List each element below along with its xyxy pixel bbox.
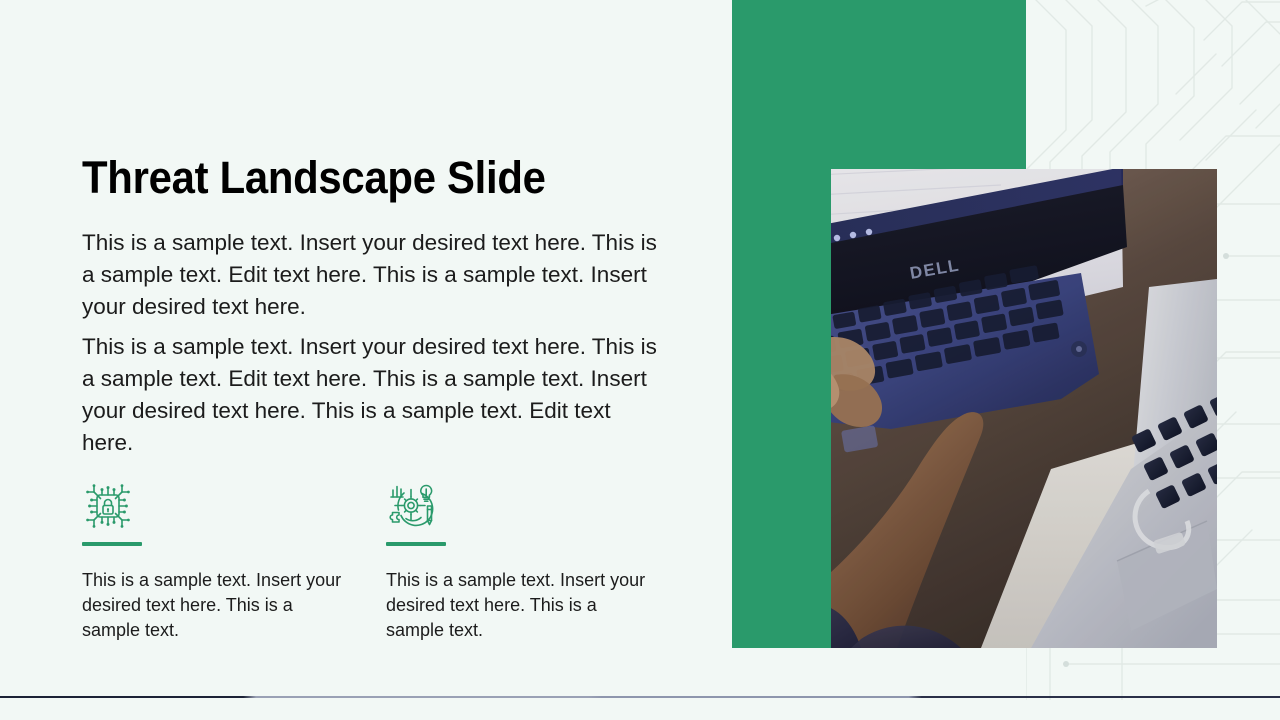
feature-caption-2: This is a sample text. Insert your desir… [386,568,648,643]
laptop-typing-photo: DELL [831,169,1217,648]
feature-item-1[interactable]: This is a sample text. Insert your desir… [82,480,362,661]
feature-accent-bar-1 [82,542,142,546]
body-paragraph-2: This is a sample text. Insert your desir… [82,331,662,459]
body-paragraph-1: This is a sample text. Insert your desir… [82,227,662,323]
text-content-column: Threat Landscape Slide This is a sample … [82,0,682,720]
feature-accent-bar-2 [386,542,446,546]
slide-canvas: DELL [0,0,1280,720]
page-title: Threat Landscape Slide [82,154,546,201]
chip-lock-icon [82,480,134,532]
strategy-gear-icon [386,480,438,532]
feature-caption-1: This is a sample text. Insert your desir… [82,568,344,643]
bottom-divider-rule [0,696,1280,698]
feature-item-2[interactable]: This is a sample text. Insert your desir… [386,480,666,661]
